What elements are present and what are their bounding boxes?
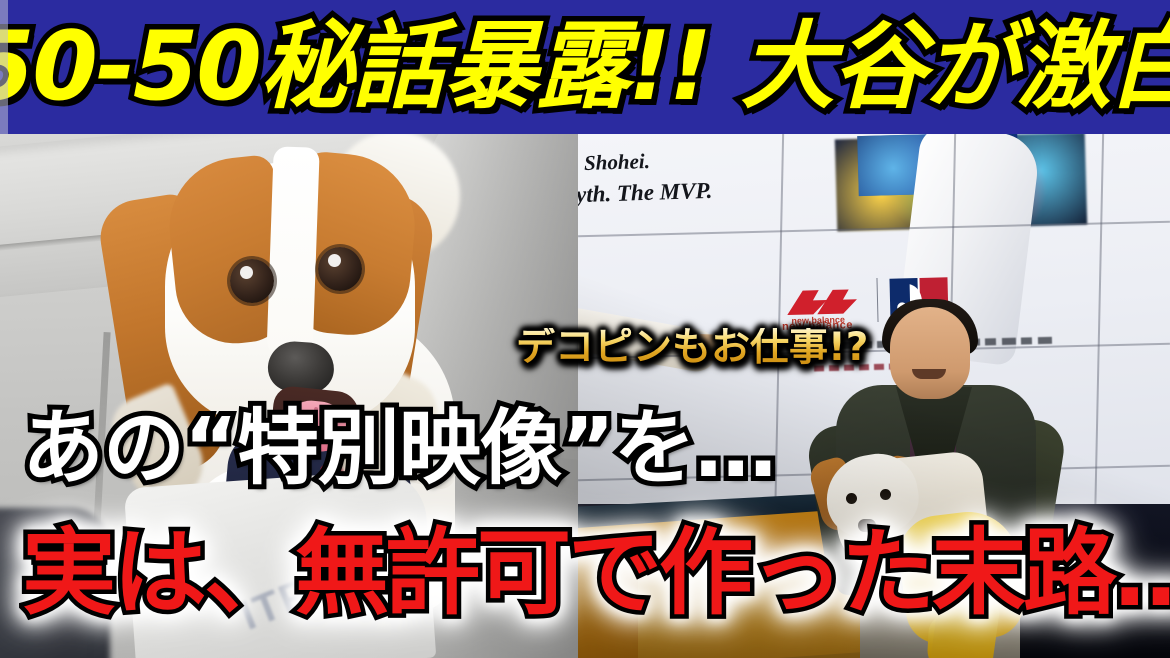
title-banner: 50-50秘話暴露!! 大谷が激白 [0, 0, 1170, 134]
screen-caption-line-1: Shohei. [584, 149, 651, 176]
held-dog-eye-right [880, 489, 891, 500]
video-wall-bezel [1094, 132, 1104, 532]
screen-caption-line-2: yth. The MVP. [578, 178, 713, 208]
dog-face-blaze [266, 146, 319, 362]
red-caption: 実は、無許可で作った末路… [22, 527, 1170, 621]
youtube-thumbnail: 50-50秘話暴露!! 大谷が激白 [0, 0, 1170, 658]
white-caption: あの“特別映像”を… [22, 408, 776, 490]
held-dog-eye-left [846, 493, 857, 504]
dog-eye-left [230, 259, 274, 303]
gold-caption: デコピンもお仕事!? [516, 328, 868, 367]
man-mouth [912, 369, 946, 379]
banner-headline: 50-50秘話暴露!! 大谷が激白 [6, 0, 1164, 134]
dog-eye-right [318, 247, 362, 291]
man-head [890, 307, 970, 399]
